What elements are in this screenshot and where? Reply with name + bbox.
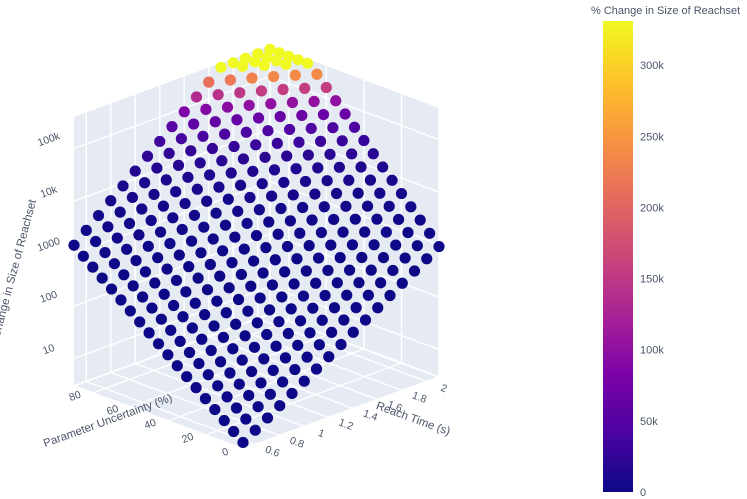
scatter-point[interactable] (218, 332, 229, 343)
scatter-point[interactable] (232, 206, 243, 217)
scatter-point[interactable] (299, 376, 310, 387)
scatter-point[interactable] (396, 188, 407, 199)
scatter-point[interactable] (128, 280, 139, 291)
scatter-point[interactable] (155, 226, 166, 237)
scatter-point[interactable] (240, 414, 251, 425)
scatter-point[interactable] (260, 242, 271, 253)
scatter-point[interactable] (360, 314, 371, 325)
scatter-point[interactable] (195, 247, 206, 258)
scatter-point[interactable] (210, 116, 221, 127)
scatter-point[interactable] (278, 177, 289, 188)
scatter-point[interactable] (189, 210, 200, 221)
scatter-point[interactable] (226, 167, 237, 178)
scatter-point[interactable] (195, 157, 206, 168)
scatter-point[interactable] (359, 226, 370, 237)
scatter-point[interactable] (179, 106, 190, 117)
scatter-point[interactable] (393, 214, 404, 225)
scatter-point[interactable] (208, 233, 219, 244)
scatter-point[interactable] (213, 89, 224, 100)
scatter-point[interactable] (142, 151, 153, 162)
scatter-point[interactable] (274, 400, 285, 411)
scatter-point[interactable] (297, 202, 308, 213)
scatter-point[interactable] (244, 100, 255, 111)
scatter-point[interactable] (281, 150, 292, 161)
scatter-point[interactable] (334, 162, 345, 173)
scatter-point[interactable] (350, 214, 361, 225)
scatter-point[interactable] (213, 182, 224, 193)
scatter-point[interactable] (165, 325, 176, 336)
scatter-point[interactable] (368, 148, 379, 159)
scatter-point[interactable] (164, 148, 175, 159)
scatter-point[interactable] (241, 127, 252, 138)
scatter-point[interactable] (325, 239, 336, 250)
scatter-point[interactable] (272, 138, 283, 149)
scatter-point[interactable] (257, 178, 268, 189)
scatter-point[interactable] (301, 265, 312, 276)
scatter-point[interactable] (118, 269, 129, 280)
scatter-point[interactable] (288, 278, 299, 289)
scatter-point[interactable] (424, 228, 435, 239)
scatter-point[interactable] (152, 252, 163, 263)
scatter-point[interactable] (270, 341, 281, 352)
scatter-point[interactable] (269, 164, 280, 175)
scatter-point[interactable] (280, 352, 291, 363)
scatter-point[interactable] (162, 349, 173, 360)
scatter-point[interactable] (216, 155, 227, 166)
scatter-point[interactable] (168, 300, 179, 311)
scatter-point[interactable] (156, 314, 167, 325)
scatter-point[interactable] (176, 133, 187, 144)
scatter-point[interactable] (121, 244, 132, 255)
scatter-point[interactable] (68, 240, 79, 251)
scatter-point[interactable] (174, 250, 185, 261)
scatter-point[interactable] (224, 282, 235, 293)
scatter-point[interactable] (105, 195, 116, 206)
scatter-point[interactable] (250, 425, 261, 436)
scatter-point[interactable] (248, 255, 259, 266)
scatter-point[interactable] (127, 192, 138, 203)
scatter-point[interactable] (307, 303, 318, 314)
scatter-point[interactable] (277, 84, 288, 95)
scatter-point[interactable] (275, 203, 286, 214)
scatter-point[interactable] (286, 388, 297, 399)
scatter-point[interactable] (198, 222, 209, 233)
scatter-point[interactable] (322, 265, 333, 276)
scatter-point[interactable] (231, 114, 242, 125)
scatter-point[interactable] (200, 393, 211, 404)
scatter-point[interactable] (268, 71, 279, 82)
scatter-point[interactable] (109, 258, 120, 269)
scatter-point[interactable] (206, 345, 217, 356)
scatter-point[interactable] (313, 252, 324, 263)
scatter-point[interactable] (130, 165, 141, 176)
scatter-point[interactable] (221, 307, 232, 318)
scatter-point[interactable] (246, 73, 257, 84)
scatter-point[interactable] (344, 265, 355, 276)
scatter-point[interactable] (258, 353, 269, 364)
scatter-point[interactable] (335, 339, 346, 350)
scatter-point[interactable] (304, 240, 315, 251)
scatter-point[interactable] (255, 292, 266, 303)
scatter-point[interactable] (233, 294, 244, 305)
scatter-point[interactable] (316, 227, 327, 238)
scatter-point[interactable] (275, 111, 286, 122)
scatter-point[interactable] (353, 188, 364, 199)
scatter-point[interactable] (166, 121, 177, 132)
scatter-point[interactable] (161, 263, 172, 274)
scatter-point[interactable] (405, 201, 416, 212)
scatter-point[interactable] (133, 229, 144, 240)
scatter-point[interactable] (93, 210, 104, 221)
scatter-point[interactable] (286, 303, 297, 314)
scatter-point[interactable] (244, 192, 255, 203)
scatter-point[interactable] (261, 329, 272, 340)
scatter-point[interactable] (323, 351, 334, 362)
scatter-point[interactable] (202, 284, 213, 295)
scatter-point[interactable] (262, 412, 273, 423)
scatter-point[interactable] (287, 97, 298, 108)
scatter-point[interactable] (203, 77, 214, 88)
scatter-point[interactable] (265, 389, 276, 400)
scatter-point[interactable] (321, 82, 332, 93)
scatter-point[interactable] (220, 220, 231, 231)
scatter-point[interactable] (226, 257, 237, 268)
scatter-point[interactable] (335, 252, 346, 263)
scatter-point[interactable] (137, 291, 148, 302)
scatter-point[interactable] (81, 225, 92, 236)
scatter-point[interactable] (303, 149, 314, 160)
scatter-point[interactable] (149, 277, 160, 288)
scatter-point[interactable] (366, 265, 377, 276)
scatter-point[interactable] (182, 172, 193, 183)
scatter-point[interactable] (115, 294, 126, 305)
scatter-point[interactable] (280, 59, 291, 70)
scatter-point[interactable] (340, 108, 351, 119)
scatter-point[interactable] (234, 87, 245, 98)
scatter-point[interactable] (222, 102, 233, 113)
scatter-point[interactable] (412, 240, 423, 251)
scatter-point[interactable] (353, 277, 364, 288)
scatter-point[interactable] (146, 215, 157, 226)
scatter-point[interactable] (255, 377, 266, 388)
scatter-point[interactable] (209, 404, 220, 415)
scatter-point[interactable] (312, 162, 323, 173)
scatter-point[interactable] (188, 118, 199, 129)
scatter-point[interactable] (415, 214, 426, 225)
scatter-point[interactable] (175, 336, 186, 347)
scatter-point[interactable] (302, 58, 313, 69)
scatter-point[interactable] (251, 230, 262, 241)
scatter-point[interactable] (154, 136, 165, 147)
scatter-point[interactable] (341, 290, 352, 301)
scatter-point[interactable] (397, 278, 408, 289)
scatter-point[interactable] (193, 273, 204, 284)
scatter-point[interactable] (311, 363, 322, 374)
scatter-point[interactable] (292, 340, 303, 351)
scatter-point[interactable] (193, 358, 204, 369)
scatter-point[interactable] (221, 391, 232, 402)
scatter-point[interactable] (139, 177, 150, 188)
scatter-point[interactable] (338, 314, 349, 325)
scatter-point[interactable] (184, 347, 195, 358)
scatter-point[interactable] (363, 290, 374, 301)
scatter-point[interactable] (159, 289, 170, 300)
scatter-point[interactable] (179, 198, 190, 209)
scatter-point[interactable] (402, 227, 413, 238)
scatter-point[interactable] (268, 365, 279, 376)
scatter-point[interactable] (117, 180, 128, 191)
scatter-point[interactable] (201, 196, 212, 207)
scatter-point[interactable] (204, 169, 215, 180)
scatter-point[interactable] (205, 259, 216, 270)
scatter-point[interactable] (125, 305, 136, 316)
scatter-point[interactable] (228, 141, 239, 152)
scatter-point[interactable] (299, 83, 310, 94)
scatter-point[interactable] (421, 253, 432, 264)
scatter-point[interactable] (284, 124, 295, 135)
scatter-point[interactable] (90, 236, 101, 247)
scatter-point[interactable] (291, 163, 302, 174)
scatter-point[interactable] (243, 390, 254, 401)
scatter-point[interactable] (300, 176, 311, 187)
scatter-point[interactable] (124, 218, 135, 229)
scatter-point[interactable] (249, 342, 260, 353)
scatter-point[interactable] (282, 241, 293, 252)
scatter-point[interactable] (224, 367, 235, 378)
scatter-point[interactable] (317, 315, 328, 326)
scatter-point[interactable] (329, 302, 340, 313)
scatter-point[interactable] (234, 379, 245, 390)
scatter-point[interactable] (250, 139, 261, 150)
scatter-point[interactable] (331, 188, 342, 199)
scatter-point[interactable] (115, 207, 126, 218)
scatter-point[interactable] (368, 239, 379, 250)
scatter-point[interactable] (306, 123, 317, 134)
scatter-point[interactable] (319, 290, 330, 301)
scatter-point[interactable] (365, 175, 376, 186)
scatter-point[interactable] (97, 272, 108, 283)
scatter-point[interactable] (277, 376, 288, 387)
scatter-point[interactable] (223, 194, 234, 205)
scatter-point[interactable] (374, 188, 385, 199)
scatter-point[interactable] (270, 254, 281, 265)
scatter-point[interactable] (200, 104, 211, 115)
scatter-point[interactable] (267, 279, 278, 290)
scatter-point[interactable] (390, 240, 401, 251)
scatter-point[interactable] (146, 302, 157, 313)
scatter-point[interactable] (196, 334, 207, 345)
scatter-point[interactable] (259, 60, 270, 71)
scatter-point[interactable] (112, 232, 123, 243)
scatter-point[interactable] (349, 122, 360, 133)
scatter-point[interactable] (283, 328, 294, 339)
scatter-point[interactable] (227, 343, 238, 354)
scatter-point[interactable] (225, 74, 236, 85)
scatter-point[interactable] (219, 129, 230, 140)
scatter-point[interactable] (322, 175, 333, 186)
scatter-point[interactable] (237, 355, 248, 366)
scatter-point[interactable] (409, 265, 420, 276)
scatter-point[interactable] (326, 327, 337, 338)
scatter-point[interactable] (134, 316, 145, 327)
scatter-point[interactable] (246, 366, 257, 377)
scatter-point[interactable] (242, 218, 253, 229)
scatter-point[interactable] (183, 261, 194, 272)
scatter-point[interactable] (192, 184, 203, 195)
scatter-point[interactable] (153, 338, 164, 349)
scatter-point[interactable] (266, 190, 277, 201)
scatter-point[interactable] (306, 214, 317, 225)
scatter-point[interactable] (212, 380, 223, 391)
scatter-point[interactable] (340, 201, 351, 212)
scatter-point[interactable] (229, 232, 240, 243)
scatter-point[interactable] (337, 227, 348, 238)
scatter-point[interactable] (237, 437, 248, 448)
scatter-point[interactable] (236, 269, 247, 280)
scatter-point[interactable] (190, 298, 201, 309)
scatter-point[interactable] (276, 291, 287, 302)
scatter-point[interactable] (230, 319, 241, 330)
scatter-point[interactable] (377, 161, 388, 172)
scatter-point[interactable] (314, 339, 325, 350)
scatter-point[interactable] (330, 95, 341, 106)
scatter-point[interactable] (253, 112, 264, 123)
scatter-point[interactable] (148, 189, 159, 200)
scatter-point[interactable] (319, 201, 330, 212)
scatter-point[interactable] (215, 356, 226, 367)
scatter-point[interactable] (328, 214, 339, 225)
scatter-point[interactable] (210, 208, 221, 219)
scatter-point[interactable] (375, 277, 386, 288)
scatter-point[interactable] (87, 262, 98, 273)
scatter-point[interactable] (355, 161, 366, 172)
scatter-point[interactable] (181, 371, 192, 382)
scatter-point[interactable] (140, 266, 151, 277)
scatter-point[interactable] (106, 283, 117, 294)
scatter-point[interactable] (362, 201, 373, 212)
scatter-point[interactable] (136, 203, 147, 214)
scatter-point[interactable] (273, 229, 284, 240)
scatter-point[interactable] (378, 252, 389, 263)
scatter-point[interactable] (237, 61, 248, 72)
scatter-point[interactable] (386, 175, 397, 186)
scatter-point[interactable] (151, 162, 162, 173)
scatter-point[interactable] (311, 69, 322, 80)
scatter-point[interactable] (279, 266, 290, 277)
scatter-point[interactable] (257, 267, 268, 278)
scatter-point[interactable] (167, 212, 178, 223)
scatter-point[interactable] (381, 227, 392, 238)
scatter-point[interactable] (144, 327, 155, 338)
scatter-point[interactable] (327, 122, 338, 133)
scatter-point[interactable] (289, 364, 300, 375)
scatter-point[interactable] (290, 70, 301, 81)
scatter-point[interactable] (172, 360, 183, 371)
scatter-point[interactable] (315, 136, 326, 147)
scatter-point[interactable] (228, 426, 239, 437)
scatter-point[interactable] (346, 148, 357, 159)
scatter-point[interactable] (264, 304, 275, 315)
scatter-point[interactable] (217, 245, 228, 256)
scatter-point[interactable] (99, 247, 110, 258)
scatter-point[interactable] (180, 286, 191, 297)
scatter-point[interactable] (308, 96, 319, 107)
scatter-point[interactable] (199, 309, 210, 320)
scatter-point[interactable] (245, 281, 256, 292)
scatter-point[interactable] (263, 216, 274, 227)
scatter-point[interactable] (294, 228, 305, 239)
scatter-point[interactable] (296, 110, 307, 121)
scatter-point[interactable] (347, 239, 358, 250)
scatter-point[interactable] (203, 369, 214, 380)
scatter-point[interactable] (304, 327, 315, 338)
scatter-point[interactable] (185, 145, 196, 156)
scatter-point[interactable] (310, 278, 321, 289)
scatter-point[interactable] (215, 62, 226, 73)
scatter-point[interactable] (372, 302, 383, 313)
scatter-point[interactable] (164, 238, 175, 249)
scatter-point[interactable] (371, 214, 382, 225)
scatter-point[interactable] (348, 327, 359, 338)
scatter-point[interactable] (273, 316, 284, 327)
scatter-point[interactable] (219, 415, 230, 426)
scatter-point[interactable] (400, 252, 411, 263)
scatter-point[interactable] (242, 306, 253, 317)
scatter-point[interactable] (177, 224, 188, 235)
scatter-point[interactable] (239, 243, 250, 254)
scatter-point[interactable] (143, 241, 154, 252)
scatter-point[interactable] (231, 402, 242, 413)
scatter-point[interactable] (173, 160, 184, 171)
scatter-point[interactable] (356, 252, 367, 263)
scatter-point[interactable] (351, 302, 362, 313)
scatter-point[interactable] (161, 174, 172, 185)
scatter-point[interactable] (387, 265, 398, 276)
scatter-point[interactable] (324, 149, 335, 160)
scatter-point[interactable] (208, 320, 219, 331)
scatter-point[interactable] (214, 271, 225, 282)
scatter-point[interactable] (177, 311, 188, 322)
scatter-point[interactable] (337, 135, 348, 146)
scatter-point[interactable] (186, 236, 197, 247)
scatter-point[interactable] (130, 255, 141, 266)
scatter-point[interactable] (298, 290, 309, 301)
scatter-point[interactable] (358, 135, 369, 146)
scatter-point[interactable] (291, 253, 302, 264)
scatter-point[interactable] (191, 91, 202, 102)
scatter-point[interactable] (78, 251, 89, 262)
scatter-point[interactable] (254, 204, 265, 215)
scatter-point[interactable] (253, 401, 264, 412)
scatter-point[interactable] (190, 382, 201, 393)
scatter-point[interactable] (285, 215, 296, 226)
scatter-point[interactable] (187, 322, 198, 333)
scatter-point[interactable] (211, 296, 222, 307)
scatter-point[interactable] (102, 221, 113, 232)
scatter-point[interactable] (332, 277, 343, 288)
scatter-point[interactable] (384, 290, 395, 301)
scatter-point[interactable] (309, 188, 320, 199)
scatter-point[interactable] (318, 109, 329, 120)
scatter-point[interactable] (238, 153, 249, 164)
scatter-point[interactable] (262, 125, 273, 136)
scatter-point[interactable] (247, 166, 258, 177)
scatter-point[interactable] (288, 189, 299, 200)
scatter-point[interactable] (256, 85, 267, 96)
scatter-point[interactable] (343, 175, 354, 186)
scatter-point[interactable] (259, 152, 270, 163)
scatter-point[interactable] (293, 137, 304, 148)
